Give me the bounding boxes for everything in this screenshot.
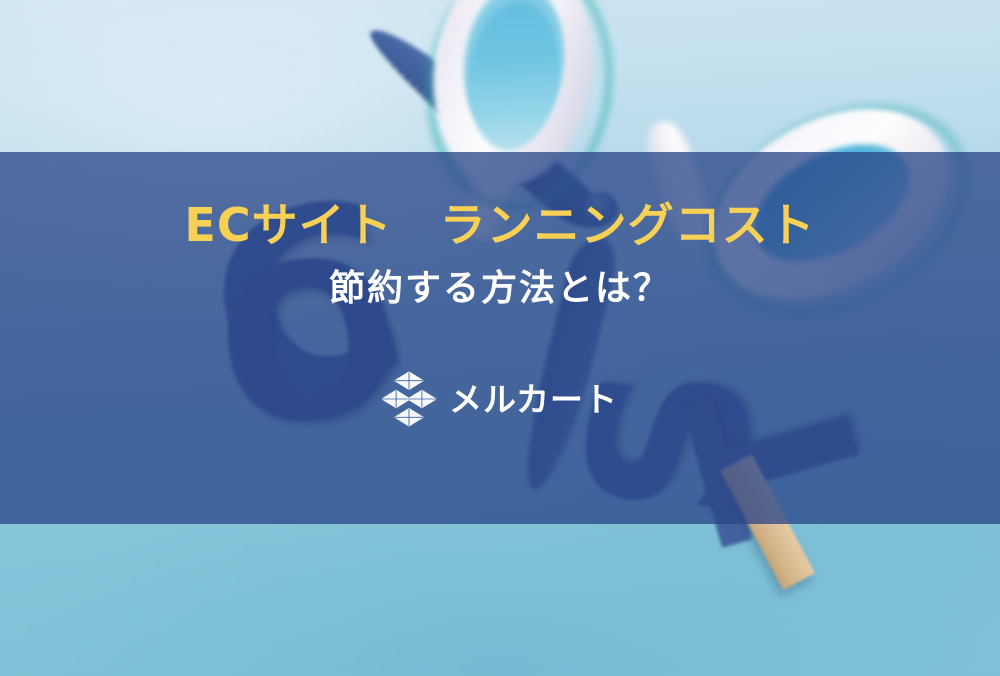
banner-content: ECサイト ランニングコスト 節約する方法とは？: [0, 152, 1000, 524]
banner-subheadline: 節約する方法とは？: [329, 269, 671, 309]
brand-logo-text: メルカート: [449, 383, 618, 416]
mercart-diamond-logo-icon: [382, 370, 436, 428]
brand-logo: メルカート: [382, 370, 618, 428]
banner-headline: ECサイト ランニングコスト: [184, 200, 815, 251]
blog-hero-banner: C O S T ECサイト ランニングコスト 節約する方法とは？: [0, 0, 1000, 676]
